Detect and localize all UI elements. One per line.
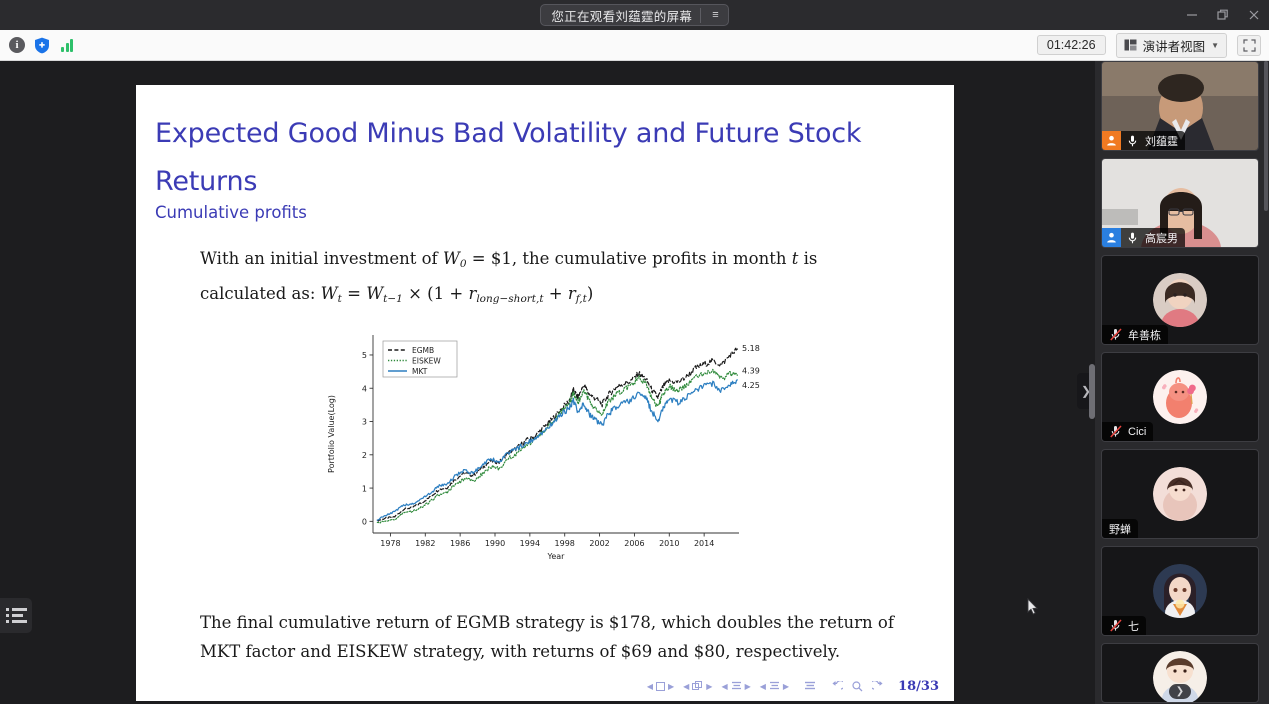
participant-name: 牟善栋 (1128, 327, 1161, 343)
participant-tile[interactable]: ❯ (1101, 643, 1259, 703)
window-controls (1176, 0, 1269, 30)
screen-share-banner[interactable]: 您正在观看刘蕴霆的屏幕 ≡ (540, 4, 728, 26)
math-times: × (1 + (403, 284, 469, 303)
svg-text:4.39: 4.39 (742, 366, 760, 375)
svg-text:2: 2 (362, 451, 367, 460)
svg-text:1978: 1978 (380, 539, 400, 548)
slide-paragraph-2: The final cumulative return of EGMB stra… (200, 608, 905, 666)
slide-paragraph-1: With an initial investment of W0 = $1, t… (200, 244, 900, 314)
slide-subtitle: Cumulative profits (155, 203, 307, 222)
math-close: ) (587, 284, 593, 303)
avatar (1153, 564, 1207, 618)
participant-tile[interactable]: 刘蕴霆 (1101, 61, 1259, 151)
text-fragment: = $1, the cumulative profits in month (467, 249, 792, 268)
title-bar: 您正在观看刘蕴霆的屏幕 ≡ (0, 0, 1269, 30)
participant-video-panel: 刘蕴霆 (1095, 61, 1269, 704)
redo-icon[interactable] (872, 681, 884, 692)
undo-icon[interactable] (831, 681, 843, 692)
svg-text:3: 3 (362, 418, 367, 427)
participant-namebar: Cici (1102, 422, 1153, 441)
svg-text:1986: 1986 (450, 539, 470, 548)
nav-presentation-group[interactable]: ◀ ▶ (760, 681, 789, 691)
mic-muted-icon (1107, 328, 1124, 341)
beamer-navigation-bar: ◀ ▶ ◀ ▶ ◀ (136, 675, 954, 697)
svg-text:4: 4 (362, 384, 367, 393)
layout-icon (1124, 39, 1137, 51)
mic-muted-icon (1107, 425, 1124, 438)
participant-name: Cici (1128, 426, 1146, 438)
search-icon[interactable] (852, 681, 863, 692)
svg-text:4.25: 4.25 (742, 381, 760, 390)
participant-name: 刘蕴霆 (1145, 133, 1178, 149)
participant-tile[interactable]: 高宸男 (1101, 158, 1259, 248)
mic-on-icon (1124, 135, 1141, 147)
svg-text:5: 5 (362, 351, 367, 360)
math-eq: = (342, 284, 366, 303)
math-r1-sub: long−short,t (476, 293, 543, 305)
chevron-down-icon[interactable]: ❯ (1169, 684, 1191, 699)
svg-text:5.18: 5.18 (742, 344, 760, 353)
math-wt: W (321, 284, 338, 303)
zoom-meeting-window: 您正在观看刘蕴霆的屏幕 ≡ (0, 0, 1269, 704)
participant-tile[interactable]: 牟善栋 (1101, 255, 1259, 345)
participant-tile[interactable]: Cici (1101, 352, 1259, 442)
hamburger-icon[interactable]: ≡ (709, 10, 721, 21)
math-wt1: W (366, 284, 383, 303)
shield-icon[interactable] (33, 36, 51, 54)
svg-text:MKT: MKT (412, 367, 428, 376)
mic-muted-icon (1107, 619, 1124, 632)
view-mode-label: 演讲者视图 (1143, 36, 1206, 55)
math-w0-sub: 0 (460, 258, 467, 270)
mic-on-icon (1124, 232, 1141, 244)
math-r2-sub: f,t (576, 293, 587, 305)
info-icon[interactable]: i (8, 36, 26, 54)
svg-text:2014: 2014 (694, 539, 714, 548)
person-icon (1102, 228, 1121, 247)
svg-text:1982: 1982 (415, 539, 435, 548)
nav-toc-icon[interactable] (804, 681, 816, 691)
list-menu-icon[interactable] (0, 598, 32, 633)
minimize-button[interactable] (1176, 0, 1207, 30)
participant-name: 七 (1128, 618, 1139, 634)
avatar (1153, 273, 1207, 327)
restore-button[interactable] (1207, 0, 1238, 30)
shared-screen-stage: Expected Good Minus Bad Volatility and F… (0, 61, 1095, 704)
view-mode-dropdown[interactable]: 演讲者视图 ▼ (1116, 33, 1227, 58)
svg-text:1994: 1994 (520, 539, 540, 548)
svg-text:1990: 1990 (485, 539, 505, 548)
participant-namebar: 高宸男 (1102, 228, 1185, 247)
svg-text:0: 0 (362, 518, 367, 527)
math-w0: W (443, 249, 460, 268)
svg-text:1998: 1998 (555, 539, 575, 548)
svg-text:EGMB: EGMB (412, 346, 434, 355)
participant-name: 高宸男 (1145, 230, 1178, 246)
divider (700, 8, 701, 23)
participant-name: 野蝉 (1109, 521, 1131, 537)
math-r2: r (568, 284, 576, 303)
presentation-slide: Expected Good Minus Bad Volatility and F… (136, 85, 954, 701)
svg-text:2006: 2006 (624, 539, 644, 548)
nav-subsection-group[interactable]: ◀ ▶ (683, 681, 712, 691)
participant-namebar: 野蝉 (1102, 519, 1138, 538)
meeting-toolbar: i 01:42:26 (0, 30, 1269, 61)
toolbar-left-icons: i (8, 36, 76, 54)
panel-scrollbar[interactable] (1264, 61, 1268, 211)
text-fragment: With an initial investment of (200, 249, 443, 268)
cumulative-profits-chart: 0123451978198219861990199419982002200620… (321, 325, 766, 575)
mouse-pointer-icon (1027, 598, 1039, 615)
participant-namebar: 刘蕴霆 (1102, 131, 1185, 150)
svg-text:Portfolio Value(Log): Portfolio Value(Log) (327, 395, 336, 473)
participant-tile[interactable]: 野蝉 (1101, 449, 1259, 539)
math-plus: + (544, 284, 568, 303)
meeting-timer: 01:42:26 (1037, 35, 1106, 55)
chevron-down-icon: ▼ (1211, 41, 1219, 50)
avatar (1153, 467, 1207, 521)
svg-text:2010: 2010 (659, 539, 679, 548)
svg-text:EISKEW: EISKEW (412, 357, 441, 366)
participant-tile[interactable]: 七 (1101, 546, 1259, 636)
avatar (1153, 370, 1207, 424)
toolbar-right-controls: 01:42:26 演讲者视图 ▼ (1037, 33, 1261, 58)
fullscreen-button[interactable] (1237, 35, 1261, 56)
svg-text:1: 1 (362, 484, 367, 493)
page-title: Expected Good Minus Bad Volatility and F… (155, 110, 915, 206)
page-number: 18/33 (898, 679, 939, 694)
svg-text:2002: 2002 (589, 539, 609, 548)
line-chart-svg: 0123451978198219861990199419982002200620… (321, 325, 766, 575)
signal-bars-icon[interactable] (58, 36, 76, 54)
math-wt1-sub: t−1 (383, 293, 403, 305)
share-banner-text: 您正在观看刘蕴霆的屏幕 (551, 6, 692, 25)
svg-text:Year: Year (547, 552, 566, 561)
participant-namebar: 七 (1102, 616, 1146, 635)
close-button[interactable] (1238, 0, 1269, 30)
person-icon (1102, 131, 1121, 150)
nav-frame-group[interactable]: ◀ ▶ (647, 682, 674, 691)
nav-section-group[interactable]: ◀ ▶ (721, 681, 750, 691)
participant-namebar: 牟善栋 (1102, 325, 1168, 344)
